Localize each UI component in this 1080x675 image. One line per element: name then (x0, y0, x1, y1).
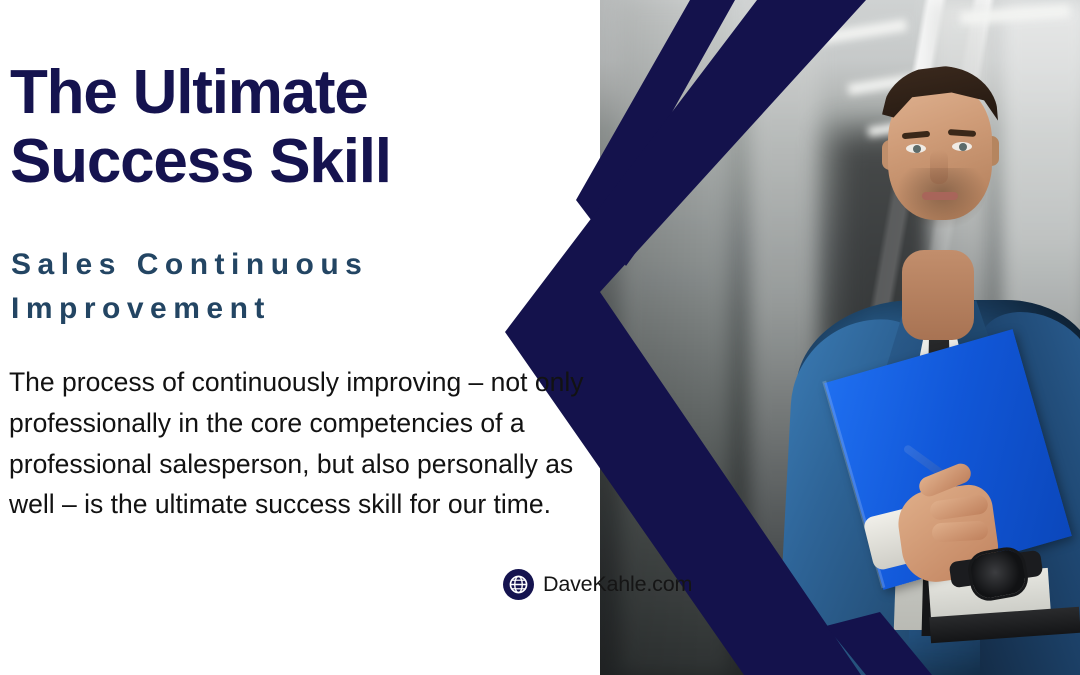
neck (902, 250, 974, 340)
page-subtitle: Sales Continuous Improvement (11, 243, 531, 332)
globe-icon (503, 569, 534, 600)
finger (932, 521, 989, 543)
mouth (922, 192, 958, 200)
brand-lockup[interactable]: DaveKahle.com (503, 569, 692, 600)
slide-canvas: The Ultimate Success Skill Sales Continu… (0, 0, 1080, 675)
pupil-right (959, 143, 967, 151)
body-paragraph: The process of continuously improving – … (9, 362, 584, 525)
pupil-left (913, 145, 921, 153)
page-title: The Ultimate Success Skill (10, 58, 570, 197)
brand-name-label: DaveKahle.com (543, 572, 692, 597)
nose (930, 150, 948, 184)
text-column: The Ultimate Success Skill Sales Continu… (0, 0, 600, 675)
